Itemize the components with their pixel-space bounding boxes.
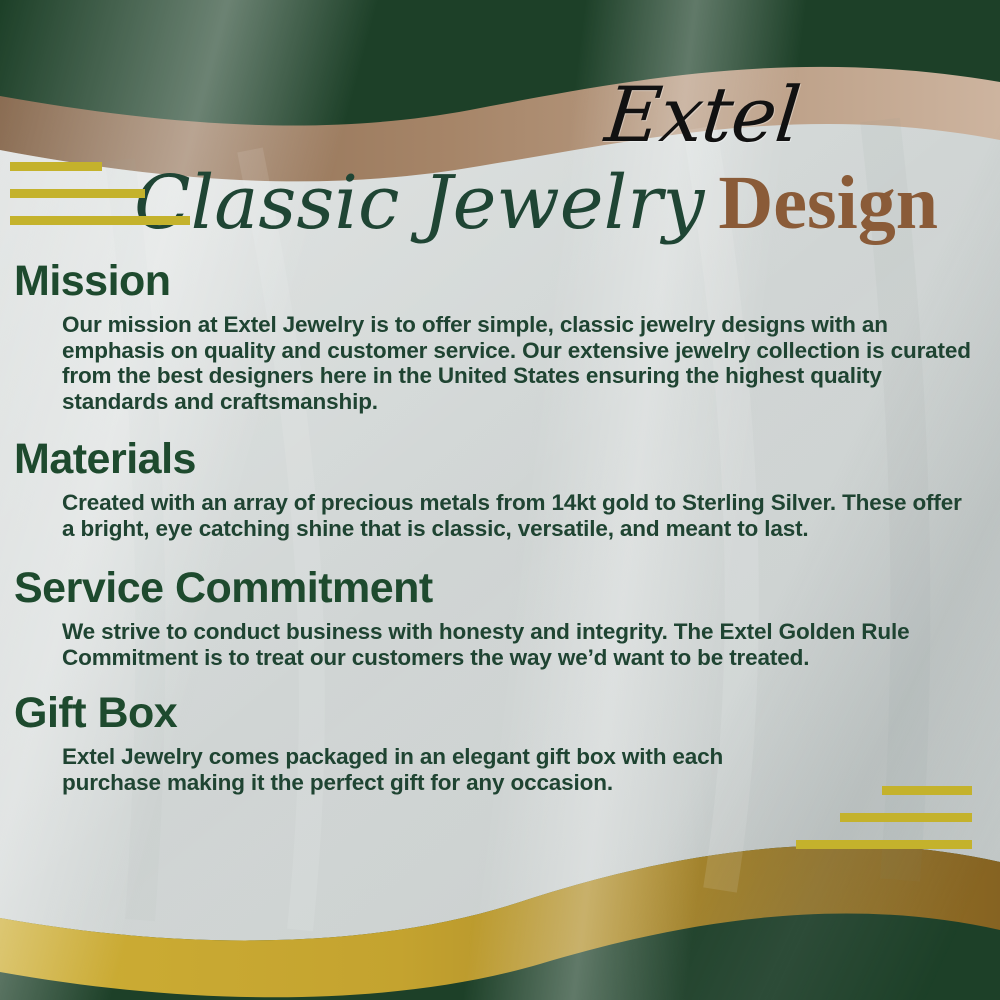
title-script-part: Classic Jewelry <box>134 160 704 246</box>
section-materials: Materials Created with an array of preci… <box>14 434 976 541</box>
section-body: Extel Jewelry comes packaged in an elega… <box>62 744 762 795</box>
section-body: Our mission at Extel Jewelry is to offer… <box>62 312 976 414</box>
section-heading: Materials <box>14 434 976 484</box>
section-gift-box: Gift Box Extel Jewelry comes packaged in… <box>14 688 976 795</box>
section-body: We strive to conduct business with hones… <box>62 619 976 670</box>
section-heading: Mission <box>14 256 976 306</box>
brand-wordmark: Extel <box>601 72 870 158</box>
gold-rule-medium <box>840 813 972 822</box>
section-body: Created with an array of precious metals… <box>62 490 976 541</box>
title-serif-part: Design <box>718 161 938 245</box>
page-title: Classic JewelryDesign <box>0 160 1000 252</box>
sections-container: Mission Our mission at Extel Jewelry is … <box>14 256 976 809</box>
section-heading: Gift Box <box>14 688 976 738</box>
section-mission: Mission Our mission at Extel Jewelry is … <box>14 256 976 414</box>
gold-rule-long <box>796 840 972 849</box>
section-service-commitment: Service Commitment We strive to conduct … <box>14 563 976 670</box>
poster-canvas: Extel Classic JewelryDesign Mission Our … <box>0 0 1000 1000</box>
section-heading: Service Commitment <box>14 563 976 613</box>
